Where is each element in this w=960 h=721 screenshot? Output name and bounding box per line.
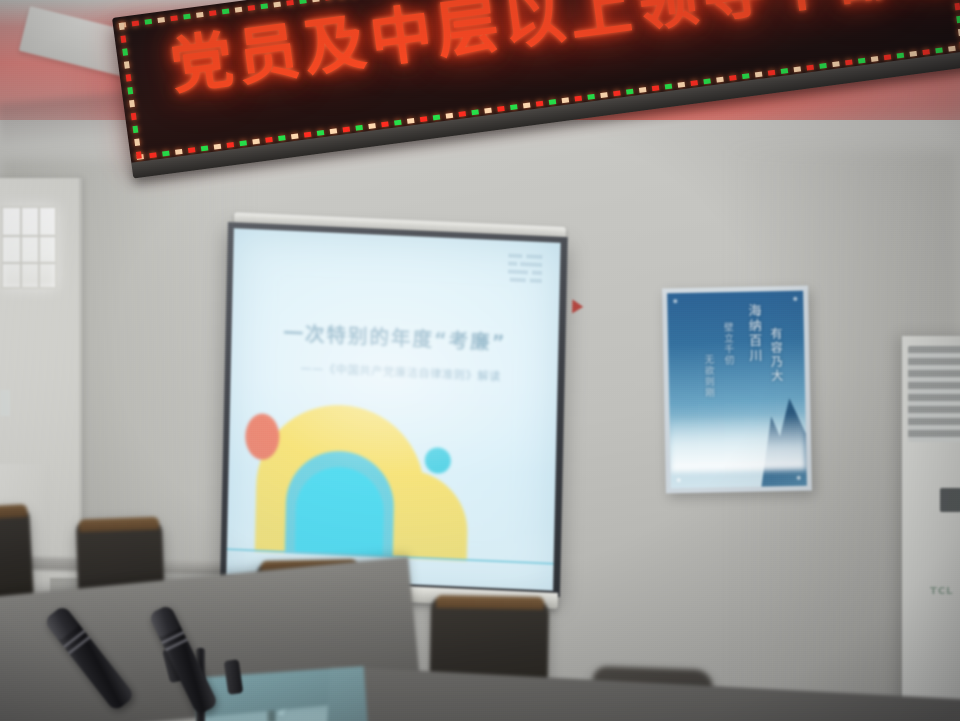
- ac-brand-mark: TCL: [930, 586, 954, 597]
- chair-headrest: [79, 517, 159, 533]
- cyan-dot: [425, 447, 452, 474]
- red-triangle-marker: [572, 299, 583, 313]
- door-plate: [0, 390, 10, 416]
- logo-watermark-icon: [508, 254, 545, 286]
- poster-pin-tr: [793, 297, 797, 301]
- transom-window: [1, 206, 57, 289]
- poster-pin-br: [797, 476, 801, 480]
- calligraphy-wall-poster: 海纳百川 有容乃大 壁立千仞 无欲则刚: [662, 286, 812, 494]
- poster-column-2: 有容乃大: [770, 327, 783, 383]
- poster-column-3: 壁立千仞: [722, 322, 732, 366]
- chair-headrest: [436, 595, 545, 610]
- screen-surface: 一次特别的年度“考廉” ——《中国共产党廉洁自律准则》解读: [226, 228, 560, 590]
- poster-column-4: 无欲则刚: [703, 354, 713, 398]
- screen-frame: 一次特别的年度“考廉” ——《中国共产党廉洁自律准则》解读: [220, 222, 568, 597]
- chair-headrest: [0, 504, 28, 519]
- room-photo: 党员及中层以上领导干部政治学习: [0, 0, 960, 721]
- floor-air-conditioner[interactable]: TCL: [902, 336, 960, 721]
- poster-mist: [670, 414, 807, 473]
- poster-pin-tl: [673, 299, 677, 303]
- ac-display-panel[interactable]: [940, 488, 960, 512]
- rainbow-arch-graphic: [227, 350, 558, 565]
- ac-grille: [908, 346, 960, 442]
- poster-pin-bl: [677, 478, 681, 482]
- slide-title: 一次特别的年度“考廉”: [283, 317, 507, 356]
- poster-artwork: 海纳百川 有容乃大 壁立千仞 无欲则刚: [667, 291, 807, 489]
- poster-column-1: 海纳百川: [746, 304, 760, 364]
